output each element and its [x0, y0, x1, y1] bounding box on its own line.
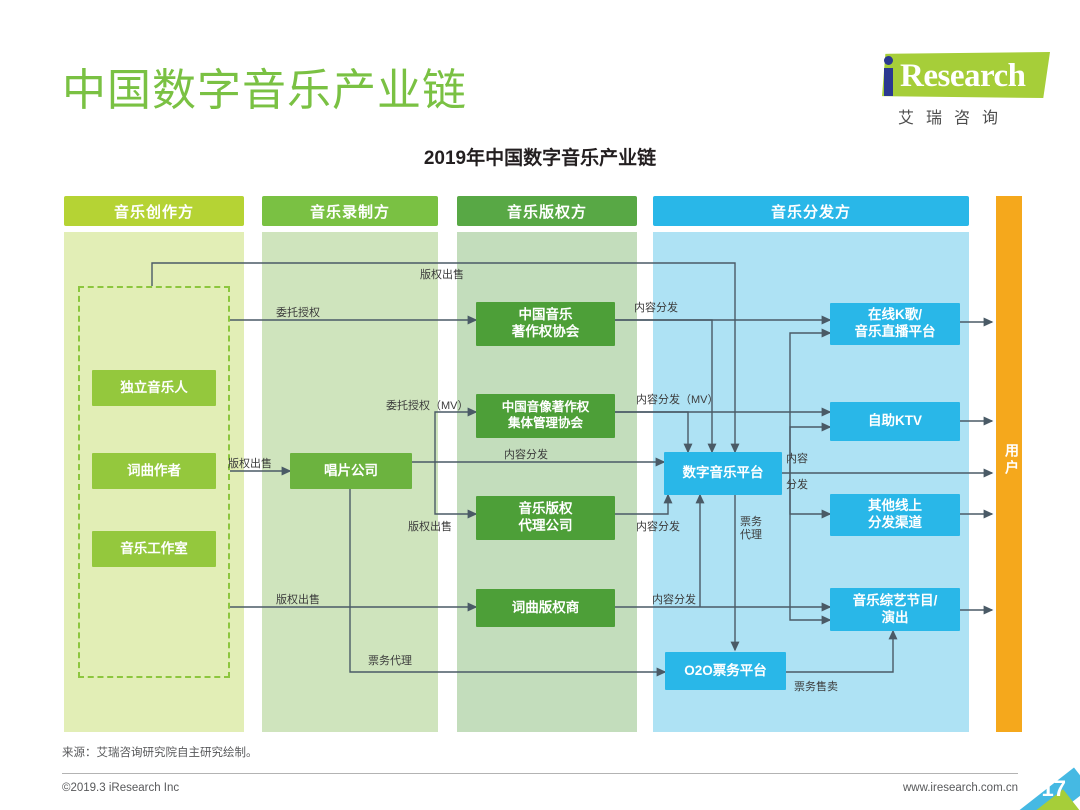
edge-label-dist-user-2: 分发	[786, 476, 808, 492]
edge-label-dist-label: 内容分发	[504, 446, 548, 462]
chart-title: 2019年中国数字音乐产业链	[0, 143, 1080, 170]
logo-wordmark: Research	[900, 58, 1026, 95]
node-label: 唱片公司	[324, 463, 378, 480]
node-label-line2: 著作权协会	[512, 324, 580, 341]
edge-label-dist-user-1: 内容	[786, 450, 808, 466]
node-label: O2O票务平台	[684, 663, 767, 680]
band-label-creators: 音乐创作方	[114, 201, 194, 222]
iresearch-logo: Research 艾瑞咨询	[850, 52, 1050, 130]
node-label-line2: 分发渠道	[868, 515, 922, 532]
node-label: 数字音乐平台	[683, 465, 764, 482]
logo-i-stem	[884, 68, 893, 96]
node-music-variety-show[interactable]: 音乐综艺节目/ 演出	[830, 588, 960, 631]
edge-label-ticket-agent-vertical: 票务代理	[740, 516, 770, 542]
node-song-publisher[interactable]: 词曲版权商	[476, 589, 615, 627]
node-online-ktv-live[interactable]: 在线K歌/ 音乐直播平台	[830, 303, 960, 345]
node-other-online-channels[interactable]: 其他线上 分发渠道	[830, 494, 960, 536]
slide-page: 中国数字音乐产业链 Research 艾瑞咨询 2019年中国数字音乐产业链 音…	[0, 0, 1080, 810]
page-title: 中国数字音乐产业链	[62, 54, 467, 118]
node-label-line1: 其他线上	[868, 498, 922, 515]
logo-i-dot	[884, 56, 893, 65]
source-note: 来源：艾瑞咨询研究院自主研究绘制。	[62, 744, 258, 760]
band-head-copyright: 音乐版权方	[457, 196, 637, 226]
node-label-line1: 音乐版权	[519, 501, 573, 518]
edge-label-sale-to-publisher: 版权出售	[276, 591, 320, 607]
edge-label-sale-to-label: 版权出售	[228, 455, 272, 471]
edge-label-dist-mcsc: 内容分发	[634, 299, 678, 315]
edge-label-ticket-agent: 票务代理	[368, 652, 412, 668]
edge-label-dist-publisher: 内容分发	[652, 591, 696, 607]
node-label: 词曲作者	[127, 463, 181, 480]
band-head-creators: 音乐创作方	[64, 196, 244, 226]
band-head-recording: 音乐录制方	[262, 196, 438, 226]
node-label-line1: 在线K歌/	[868, 307, 922, 324]
node-mcsc[interactable]: 中国音乐 著作权协会	[476, 302, 615, 346]
band-head-distribution: 音乐分发方	[653, 196, 969, 226]
node-digital-music-platform[interactable]: 数字音乐平台	[664, 452, 782, 495]
node-label-line2: 代理公司	[519, 518, 573, 535]
band-label-users: 用户	[1002, 443, 1022, 477]
logo-subtitle: 艾瑞咨询	[898, 104, 1010, 128]
node-label: 词曲版权商	[512, 600, 580, 617]
node-label-line1: 中国音像著作权	[502, 400, 590, 416]
node-label-line1: 中国音乐	[519, 307, 573, 324]
band-label-distribution: 音乐分发方	[771, 201, 851, 222]
edge-label-copyright-sale-top: 版权出售	[420, 266, 464, 282]
edge-label-ticket-sale: 票务售卖	[794, 678, 838, 694]
node-label: 自助KTV	[868, 413, 922, 430]
footer-divider	[62, 773, 1018, 774]
corner-ribbon-decoration	[994, 740, 1080, 810]
copyright-text: ©2019.3 iResearch Inc	[62, 782, 179, 794]
node-copyright-agency[interactable]: 音乐版权 代理公司	[476, 496, 615, 540]
node-cavca[interactable]: 中国音像著作权 集体管理协会	[476, 394, 615, 438]
node-label: 独立音乐人	[120, 380, 188, 397]
page-number: 17	[1042, 776, 1066, 802]
edge-label-entrust: 委托授权	[276, 304, 320, 320]
node-label-line1: 音乐综艺节目/	[853, 593, 938, 610]
edge-label-entrust-mv: 委托授权（MV）	[386, 397, 469, 413]
node-self-service-ktv[interactable]: 自助KTV	[830, 402, 960, 441]
edge-label-dist-agency: 内容分发	[636, 518, 680, 534]
edge-label-dist-mv: 内容分发（MV）	[636, 391, 719, 407]
edge-label-sale-to-agency: 版权出售	[408, 518, 452, 534]
node-record-label[interactable]: 唱片公司	[290, 453, 412, 489]
node-label: 音乐工作室	[120, 541, 188, 558]
node-songwriter[interactable]: 词曲作者	[92, 453, 216, 489]
band-label-recording: 音乐录制方	[310, 201, 390, 222]
node-indie-musician[interactable]: 独立音乐人	[92, 370, 216, 406]
node-music-studio[interactable]: 音乐工作室	[92, 531, 216, 567]
node-label-line2: 演出	[882, 610, 909, 627]
node-label-line2: 集体管理协会	[508, 416, 583, 432]
node-o2o-ticketing[interactable]: O2O票务平台	[665, 652, 786, 690]
band-label-copyright: 音乐版权方	[507, 201, 587, 222]
node-label-line2: 音乐直播平台	[855, 324, 936, 341]
